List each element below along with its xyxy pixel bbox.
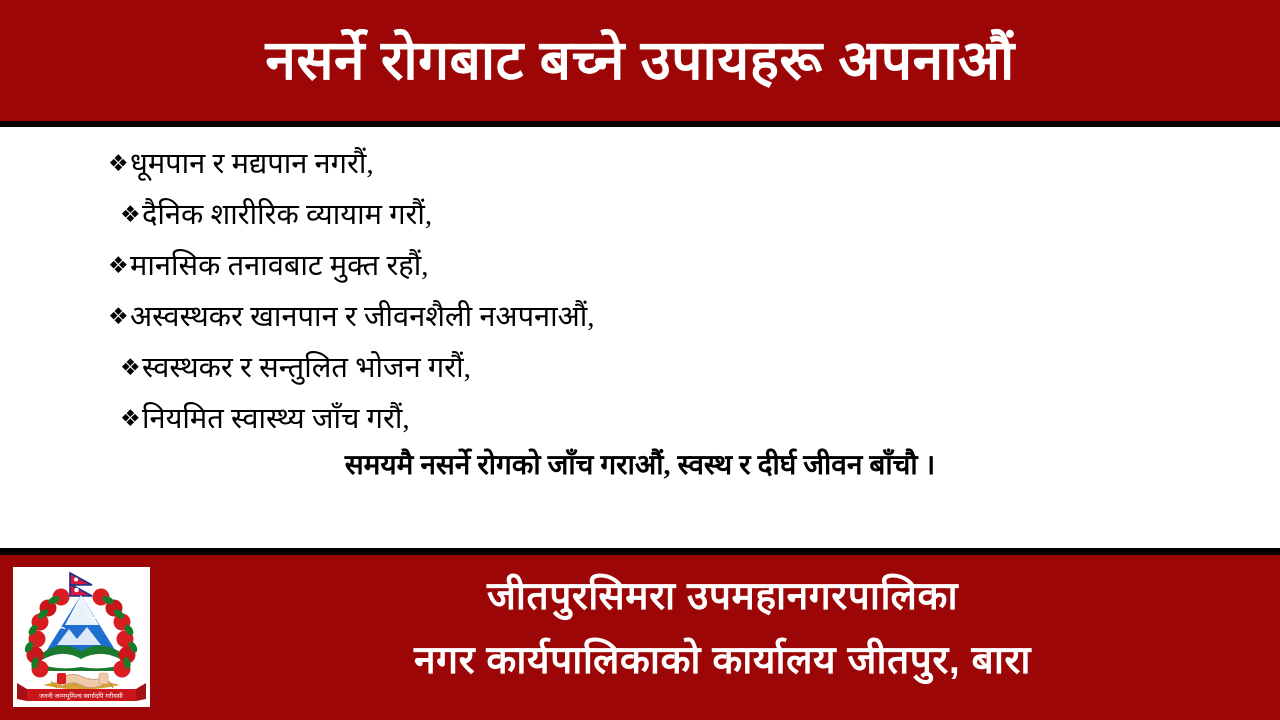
- list-item: ❖ धूमपान र मद्यपान नगरौं,: [108, 139, 1168, 190]
- page-title: नसर्ने रोगबाट बच्ने उपायहरू अपनाऔं: [265, 32, 1014, 90]
- municipality-name: जीतपुरसिमरा उपमहानगरपालिका: [175, 565, 1270, 629]
- header-band: नसर्ने रोगबाट बच्ने उपायहरू अपनाऔं: [0, 0, 1280, 121]
- prevention-tips-list: ❖ धूमपान र मद्यपान नगरौं, ❖ दैनिक शारीरि…: [108, 139, 1168, 445]
- main-content: ❖ धूमपान र मद्यपान नगरौं, ❖ दैनिक शारीरि…: [0, 127, 1280, 548]
- footer-divider: [0, 548, 1280, 555]
- diamond-bullet-icon: ❖: [120, 394, 142, 445]
- list-item-label: दैनिक शारीरिक व्यायाम गरौं,: [142, 190, 432, 241]
- emblem-motto-text: जननी जन्मभूमिश्च स्वर्गादपि गरीयसी: [39, 692, 123, 700]
- list-item-label: स्वस्थकर र सन्तुलित भोजन गरौं,: [142, 343, 471, 394]
- diamond-bullet-icon: ❖: [120, 190, 142, 241]
- municipality-office-address: नगर कार्यपालिकाको कार्यालय जीतपुर, बारा: [175, 629, 1270, 693]
- list-item: ❖ नियमित स्वास्थ्य जाँच गरौं,: [120, 394, 1168, 445]
- diamond-bullet-icon: ❖: [108, 241, 130, 292]
- list-item-label: नियमित स्वास्थ्य जाँच गरौं,: [142, 394, 410, 445]
- list-item-label: धूमपान र मद्यपान नगरौं,: [130, 139, 374, 190]
- footer-band: जननी जन्मभूमिश्च स्वर्गादपि गरीयसी जीतपु…: [0, 555, 1280, 720]
- diamond-bullet-icon: ❖: [108, 292, 130, 343]
- list-item-label: अस्वस्थकर खानपान र जीवनशैली नअपनाऔं,: [130, 292, 595, 343]
- nepal-government-emblem-icon: जननी जन्मभूमिश्च स्वर्गादपि गरीयसी: [13, 567, 150, 707]
- footer-text-block: जीतपुरसिमरा उपमहानगरपालिका नगर कार्यपालि…: [175, 565, 1270, 693]
- list-item-label: मानसिक तनावबाट मुक्त रहौं,: [130, 241, 428, 292]
- list-item: ❖ स्वस्थकर र सन्तुलित भोजन गरौं,: [120, 343, 1168, 394]
- diamond-bullet-icon: ❖: [120, 343, 142, 394]
- list-item: ❖ दैनिक शारीरिक व्यायाम गरौं,: [120, 190, 1168, 241]
- list-item: ❖ अस्वस्थकर खानपान र जीवनशैली नअपनाऔं,: [108, 292, 1168, 343]
- list-item: ❖ मानसिक तनावबाट मुक्त रहौं,: [108, 241, 1168, 292]
- public-health-awareness-poster: नसर्ने रोगबाट बच्ने उपायहरू अपनाऔं ❖ धूम…: [0, 0, 1280, 720]
- diamond-bullet-icon: ❖: [108, 139, 130, 190]
- closing-message: समयमै नसर्ने रोगको जाँच गराऔं, स्वस्थ र …: [0, 445, 1280, 483]
